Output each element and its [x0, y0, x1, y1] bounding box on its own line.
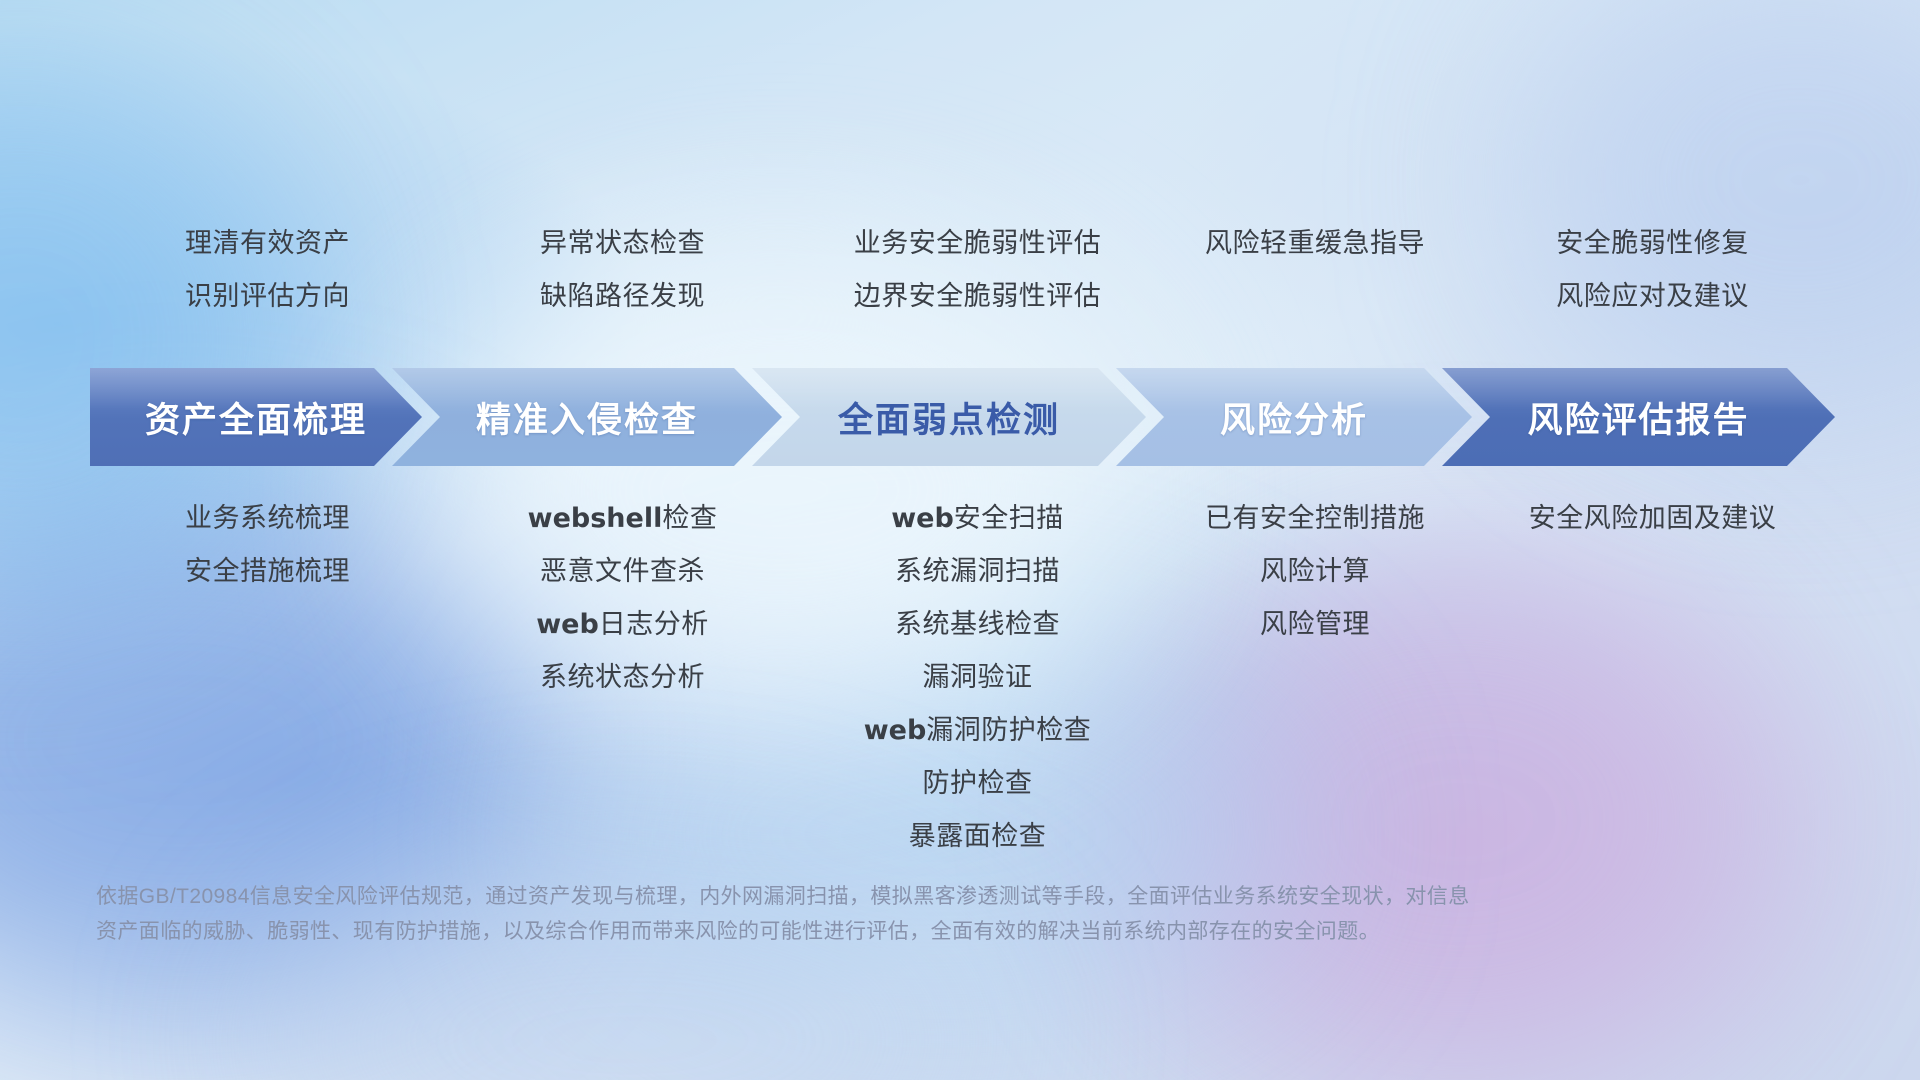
process-step-asset-inventory[interactable]: 资产全面梳理: [90, 368, 422, 466]
slide-content: 理清有效资产 识别评估方向 异常状态检查 缺陷路径发现 业务安全脆弱性评估 边界…: [0, 0, 1920, 1080]
bottom-column-4: 已有安全控制措施 风险计算 风险管理: [1155, 505, 1475, 850]
bottom-item: 防护检查: [800, 770, 1155, 797]
top-column-2: 异常状态检查 缺陷路径发现: [445, 230, 800, 310]
process-step-label: 风险评估报告: [1527, 392, 1749, 443]
bottom-column-3: web安全扫描 系统漏洞扫描 系统基线检查 漏洞验证 web漏洞防护检查 防护检…: [800, 505, 1155, 850]
process-step-label: 精准入侵检查: [476, 392, 698, 443]
process-step-weakness-detection[interactable]: 全面弱点检测: [752, 368, 1146, 466]
bottom-item: 风险管理: [1155, 611, 1475, 638]
bottom-column-5: 安全风险加固及建议: [1475, 505, 1830, 850]
latin-term: web: [891, 503, 954, 534]
bottom-item: 系统漏洞扫描: [800, 558, 1155, 585]
bottom-item: 安全措施梳理: [90, 558, 445, 585]
footer-description: 依据GB/T20984信息安全风险评估规范，通过资产发现与梳理，内外网漏洞扫描，…: [96, 880, 1616, 949]
slide-canvas: 理清有效资产 识别评估方向 异常状态检查 缺陷路径发现 业务安全脆弱性评估 边界…: [0, 0, 1920, 1080]
top-item: 安全脆弱性修复: [1475, 230, 1830, 257]
bottom-item: 系统状态分析: [445, 664, 800, 691]
bottom-item: 系统基线检查: [800, 611, 1155, 638]
footer-line-2: 资产面临的威胁、脆弱性、现有防护措施，以及综合作用而带来风险的可能性进行评估，全…: [96, 915, 1616, 950]
footer-line-1: 依据GB/T20984信息安全风险评估规范，通过资产发现与梳理，内外网漏洞扫描，…: [96, 880, 1616, 915]
bottom-item: 已有安全控制措施: [1155, 505, 1475, 532]
bottom-item: 暴露面检查: [800, 823, 1155, 850]
top-item: 识别评估方向: [90, 283, 445, 310]
top-item: 理清有效资产: [90, 230, 445, 257]
bottom-item: web漏洞防护检查: [800, 717, 1155, 744]
process-step-intrusion-check[interactable]: 精准入侵检查: [392, 368, 782, 466]
bottom-item: 风险计算: [1155, 558, 1475, 585]
top-items-row: 理清有效资产 识别评估方向 异常状态检查 缺陷路径发现 业务安全脆弱性评估 边界…: [90, 230, 1830, 310]
bottom-item: 漏洞验证: [800, 664, 1155, 691]
top-column-3: 业务安全脆弱性评估 边界安全脆弱性评估: [800, 230, 1155, 310]
process-step-label: 资产全面梳理: [145, 392, 367, 443]
bottom-item: web日志分析: [445, 611, 800, 638]
top-column-4: 风险轻重缓急指导: [1155, 230, 1475, 310]
bottom-item: web安全扫描: [800, 505, 1155, 532]
process-step-risk-report[interactable]: 风险评估报告: [1442, 368, 1835, 466]
latin-term: webshell: [528, 503, 663, 534]
top-item: 边界安全脆弱性评估: [800, 283, 1155, 310]
top-column-1: 理清有效资产 识别评估方向: [90, 230, 445, 310]
process-step-label: 风险分析: [1220, 392, 1368, 443]
bottom-column-2: webshell检查 恶意文件查杀 web日志分析 系统状态分析: [445, 505, 800, 850]
process-arrow-banner: 资产全面梳理 精准入侵检查 全面弱点检测 风险分析 风险评估报告: [90, 368, 1835, 466]
bottom-item: webshell检查: [445, 505, 800, 532]
top-column-5: 安全脆弱性修复 风险应对及建议: [1475, 230, 1830, 310]
latin-term: web: [536, 609, 599, 640]
top-item: 风险应对及建议: [1475, 283, 1830, 310]
top-item: 业务安全脆弱性评估: [800, 230, 1155, 257]
process-step-label: 全面弱点检测: [838, 392, 1060, 443]
bottom-items-row: 业务系统梳理 安全措施梳理 webshell检查 恶意文件查杀 web日志分析 …: [90, 505, 1830, 850]
bottom-item: 恶意文件查杀: [445, 558, 800, 585]
process-step-risk-analysis[interactable]: 风险分析: [1116, 368, 1472, 466]
top-item: 缺陷路径发现: [445, 283, 800, 310]
bottom-column-1: 业务系统梳理 安全措施梳理: [90, 505, 445, 850]
top-item: 异常状态检查: [445, 230, 800, 257]
bottom-item: 业务系统梳理: [90, 505, 445, 532]
top-item: 风险轻重缓急指导: [1155, 230, 1475, 257]
latin-term: web: [864, 715, 927, 746]
bottom-item: 安全风险加固及建议: [1475, 505, 1830, 532]
